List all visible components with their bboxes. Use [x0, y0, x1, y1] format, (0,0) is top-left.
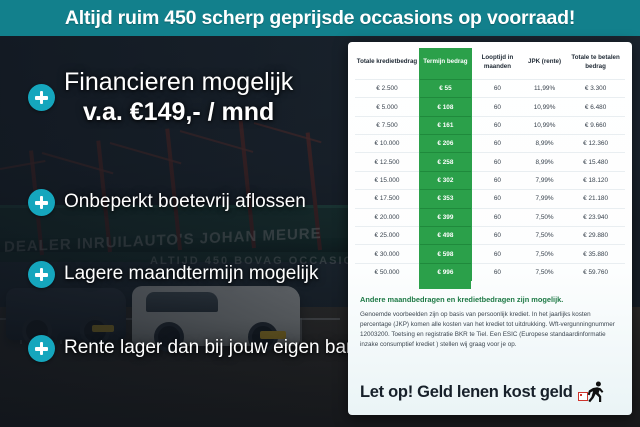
table-cell: € 59.760 — [566, 263, 625, 281]
table-cell: € 5.000 — [355, 98, 419, 116]
column-header-totale-kredietbedrag: Totale kredietbedrag — [355, 48, 419, 79]
table-cell: 7,99% — [523, 171, 566, 189]
plus-icon — [28, 84, 55, 111]
benefit-item-financieren: Financieren mogelijk v.a. €149,- / mnd — [28, 69, 293, 126]
table-header-row: Totale kredietbedrag Termijn bedrag Loop… — [355, 48, 625, 79]
table-row: € 17.500€ 353607,99%€ 21.180 — [355, 190, 625, 208]
promo-banner: DEALER INRUILAUTO'S JOHAN MEURE ALTIJD 4… — [0, 0, 640, 427]
table-row: € 5.000€ 1086010,99%€ 6.480 — [355, 98, 625, 116]
column-header-termijn-bedrag: Termijn bedrag — [419, 48, 471, 79]
table-cell: 60 — [471, 190, 523, 208]
table-cell: 60 — [471, 263, 523, 281]
table-cell: 60 — [471, 171, 523, 189]
table-cell: 60 — [471, 135, 523, 153]
table-cell: € 12.500 — [355, 153, 419, 171]
disclaimer-body: Genoemde voorbeelden zijn op basis van p… — [360, 310, 620, 351]
benefit-line-2: v.a. €149,- / mnd — [64, 99, 293, 127]
benefit-label: Rente lager dan bij jouw eigen bank — [64, 338, 366, 359]
table-cell: € 25.000 — [355, 226, 419, 244]
table-cell: € 7.500 — [355, 116, 419, 134]
disclaimer-block: Andere maandbedragen en kredietbedragen … — [348, 287, 632, 354]
table-cell: 8,99% — [523, 135, 566, 153]
headline-text: Altijd ruim 450 scherp geprijsde occasio… — [65, 7, 575, 30]
table-cell: € 353 — [419, 190, 471, 208]
benefit-item-lagere-maandtermijn: Lagere maandtermijn mogelijk — [28, 261, 319, 288]
benefit-label: Lagere maandtermijn mogelijk — [64, 264, 319, 285]
table-cell: € 12.360 — [566, 135, 625, 153]
benefit-label: Financieren mogelijk v.a. €149,- / mnd — [64, 69, 293, 126]
table-row: € 25.000€ 498607,50%€ 29.880 — [355, 226, 625, 244]
column-header-looptijd: Looptijd in maanden — [471, 48, 523, 79]
credit-rate-table: Totale kredietbedrag Termijn bedrag Loop… — [355, 48, 625, 281]
table-cell: € 206 — [419, 135, 471, 153]
table-cell: 60 — [471, 98, 523, 116]
table-cell: 60 — [471, 208, 523, 226]
table-cell: 60 — [471, 116, 523, 134]
table-row: € 50.000€ 996607,50%€ 59.760 — [355, 263, 625, 281]
table-cell: € 6.480 — [566, 98, 625, 116]
table-cell: € 15.480 — [566, 153, 625, 171]
top-headline-bar: Altijd ruim 450 scherp geprijsde occasio… — [0, 0, 640, 36]
afm-warning-text: Let op! Geld lenen kost geld — [360, 383, 573, 402]
table-cell: 7,99% — [523, 190, 566, 208]
table-cell: 7,50% — [523, 245, 566, 263]
table-row: € 20.000€ 399607,50%€ 23.940 — [355, 208, 625, 226]
table-cell: 10,99% — [523, 116, 566, 134]
table-cell: € 29.880 — [566, 226, 625, 244]
table-cell: 60 — [471, 245, 523, 263]
plus-icon — [28, 335, 55, 362]
afm-warning: Let op! Geld lenen kost geld — [348, 377, 632, 415]
table-cell: 60 — [471, 79, 523, 97]
table-cell: € 50.000 — [355, 263, 419, 281]
benefit-item-boetevrij-aflossen: Onbeperkt boetevrij aflossen — [28, 189, 306, 216]
table-cell: € 2.500 — [355, 79, 419, 97]
table-cell: 7,50% — [523, 226, 566, 244]
table-cell: 60 — [471, 153, 523, 171]
table-row: € 7.500€ 1616010,99%€ 9.660 — [355, 116, 625, 134]
table-cell: € 3.300 — [566, 79, 625, 97]
benefit-line-1: Financieren mogelijk — [64, 68, 293, 96]
table-cell: € 498 — [419, 226, 471, 244]
plus-icon — [28, 189, 55, 216]
table-cell: € 9.660 — [566, 116, 625, 134]
table-cell: € 108 — [419, 98, 471, 116]
table-body: € 2.500€ 556011,99%€ 3.300€ 5.000€ 10860… — [355, 79, 625, 281]
table-cell: € 21.180 — [566, 190, 625, 208]
table-cell: 10,99% — [523, 98, 566, 116]
afm-running-man-icon — [578, 381, 604, 403]
benefit-label: Onbeperkt boetevrij aflossen — [64, 192, 306, 213]
credit-info-panel: Totale kredietbedrag Termijn bedrag Loop… — [348, 42, 632, 415]
column-header-totale-te-betalen: Totale te betalen bedrag — [566, 48, 625, 79]
table-cell: € 598 — [419, 245, 471, 263]
table-cell: € 258 — [419, 153, 471, 171]
table-head: Totale kredietbedrag Termijn bedrag Loop… — [355, 48, 625, 79]
table-cell: € 302 — [419, 171, 471, 189]
table-cell: € 23.940 — [566, 208, 625, 226]
table-row: € 15.000€ 302607,99%€ 18.120 — [355, 171, 625, 189]
table-cell: € 30.000 — [355, 245, 419, 263]
rate-table-wrapper: Totale kredietbedrag Termijn bedrag Loop… — [348, 42, 632, 285]
table-row: € 2.500€ 556011,99%€ 3.300 — [355, 79, 625, 97]
benefit-item-lagere-rente: Rente lager dan bij jouw eigen bank — [28, 335, 366, 362]
table-cell: € 15.000 — [355, 171, 419, 189]
plus-icon — [28, 261, 55, 288]
table-cell: 60 — [471, 226, 523, 244]
table-cell: € 55 — [419, 79, 471, 97]
table-cell: € 17.500 — [355, 190, 419, 208]
disclaimer-heading: Andere maandbedragen en kredietbedragen … — [360, 295, 620, 305]
table-row: € 10.000€ 206608,99%€ 12.360 — [355, 135, 625, 153]
benefits-list: Financieren mogelijk v.a. €149,- / mnd O… — [0, 36, 348, 427]
column-header-jkp: JPK (rente) — [523, 48, 566, 79]
table-cell: € 35.880 — [566, 245, 625, 263]
table-cell: 7,50% — [523, 263, 566, 281]
table-cell: € 161 — [419, 116, 471, 134]
table-cell: € 10.000 — [355, 135, 419, 153]
table-cell: € 18.120 — [566, 171, 625, 189]
table-row: € 30.000€ 598607,50%€ 35.880 — [355, 245, 625, 263]
table-cell: 8,99% — [523, 153, 566, 171]
table-cell: € 399 — [419, 208, 471, 226]
table-cell: 7,50% — [523, 208, 566, 226]
table-cell: 11,99% — [523, 79, 566, 97]
table-row: € 12.500€ 258608,99%€ 15.480 — [355, 153, 625, 171]
table-cell: € 20.000 — [355, 208, 419, 226]
table-cell: € 996 — [419, 263, 471, 281]
